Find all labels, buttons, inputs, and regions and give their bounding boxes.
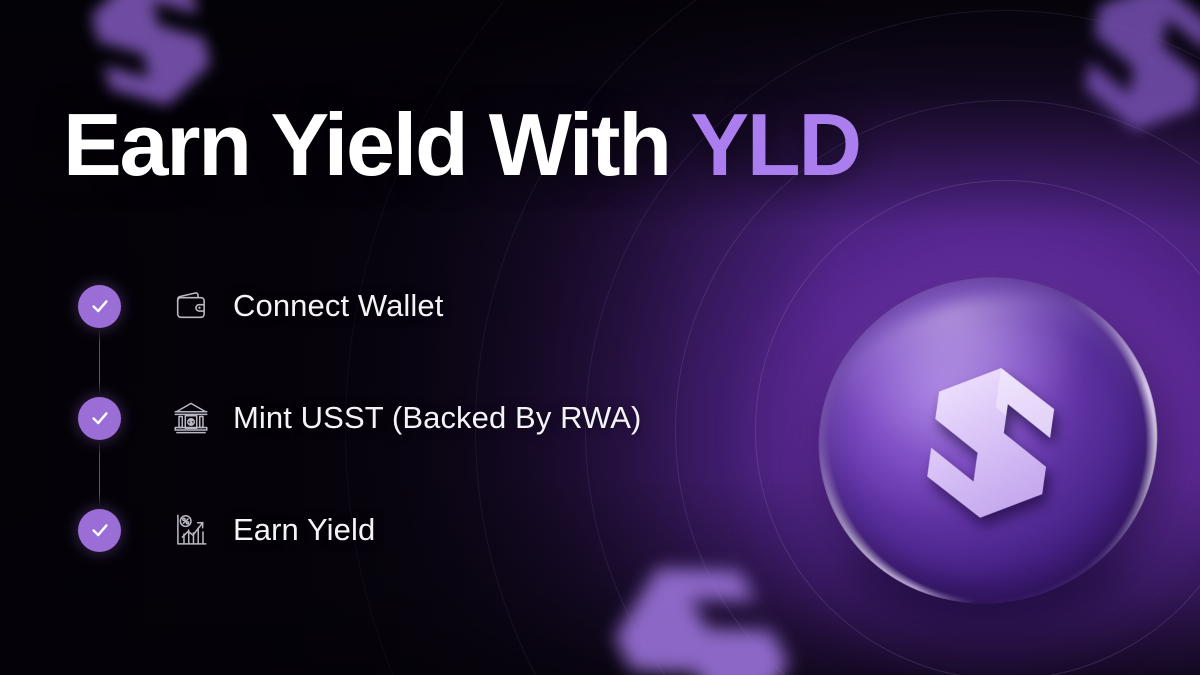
list-item-label: Mint USST (Backed By RWA) bbox=[233, 400, 641, 436]
step-connector-line bbox=[99, 441, 100, 507]
check-icon bbox=[89, 519, 111, 541]
check-icon bbox=[89, 295, 111, 317]
list-item-label: Connect Wallet bbox=[233, 288, 443, 324]
list-item-label: Earn Yield bbox=[233, 512, 375, 548]
step-connector-line bbox=[99, 329, 100, 395]
check-icon bbox=[89, 407, 111, 429]
yld-token-logo-icon bbox=[903, 351, 1074, 530]
growth-chart-icon bbox=[169, 508, 213, 552]
page-title-accent: YLD bbox=[690, 95, 859, 194]
list-item[interactable]: Earn Yield bbox=[78, 507, 778, 553]
yld-token-coin bbox=[818, 278, 1158, 603]
list-item[interactable]: Connect Wallet bbox=[78, 283, 778, 329]
check-badge bbox=[78, 509, 121, 552]
wallet-icon bbox=[169, 284, 213, 328]
check-badge bbox=[78, 397, 121, 440]
page-title-main: Earn Yield With bbox=[63, 95, 690, 194]
steps-list: Connect Wallet bbox=[78, 283, 778, 553]
check-badge bbox=[78, 285, 121, 328]
page-title: Earn Yield With YLD bbox=[63, 101, 860, 189]
bank-icon bbox=[169, 396, 213, 440]
list-item[interactable]: Mint USST (Backed By RWA) bbox=[78, 395, 778, 441]
promo-banner: Earn Yield With YLD Connect Wallet bbox=[0, 0, 1200, 675]
